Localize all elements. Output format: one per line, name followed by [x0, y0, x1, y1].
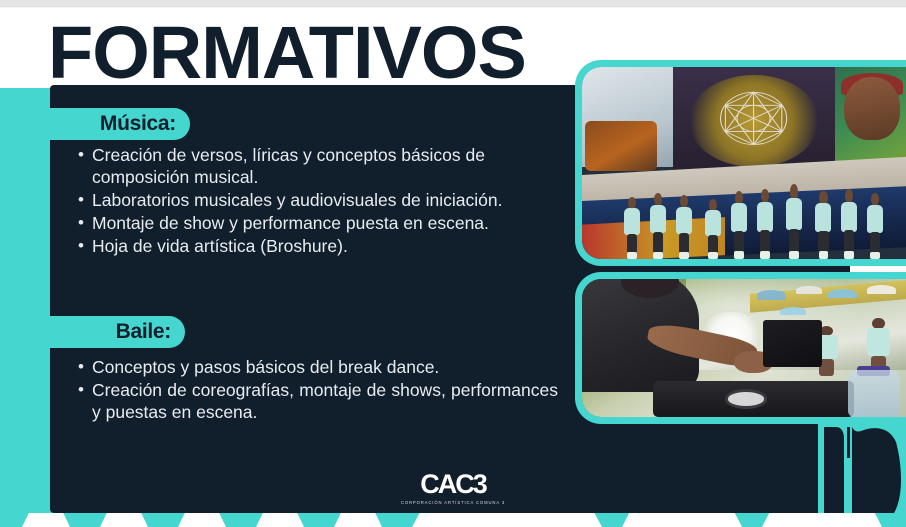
bullet-dot-icon: • — [78, 212, 92, 234]
photo-dancer — [786, 190, 802, 259]
list-item: • Montaje de show y performance puesta e… — [78, 212, 533, 234]
bottom-chevron-wide — [622, 513, 742, 527]
list-item: • Creación de versos, líricas y concepto… — [78, 144, 533, 188]
bullet-dot-icon: • — [78, 144, 92, 166]
photo-umbrella — [796, 286, 822, 294]
section-label-musica: Música: — [0, 108, 190, 140]
photo-dancer — [624, 201, 640, 259]
photo-umbrella — [867, 285, 896, 295]
bullet-dot-icon: • — [78, 379, 92, 401]
list-item: • Creación de coreografías, montaje de s… — [78, 379, 558, 423]
section-label-baile-text: Baile: — [116, 320, 171, 344]
photo-laptop — [763, 320, 821, 367]
brand-logo-mark: CAC3 — [0, 470, 906, 498]
page-title: FORMATIVOS — [48, 16, 526, 90]
bullet-dot-icon: • — [78, 356, 92, 378]
list-item-text: Montaje de show y performance puesta en … — [92, 212, 533, 234]
photo-dancer — [815, 196, 831, 259]
bottom-chevron-wide — [762, 513, 882, 527]
photo-mural-face — [844, 77, 899, 140]
photo-dancer — [841, 194, 857, 259]
list-item: • Laboratorios musicales y audiovisuales… — [78, 189, 533, 211]
photo-jog-wheel — [725, 389, 767, 408]
photo-umbrella — [828, 289, 857, 299]
dj-outdoor-event-photo — [575, 272, 906, 424]
viewer-top-chrome-shadow — [0, 6, 906, 8]
photo-dancer — [676, 199, 692, 259]
dj-outdoor-event-photo-inner — [582, 279, 906, 417]
photo-umbrella — [780, 307, 806, 315]
photo-dancer — [757, 194, 773, 259]
list-item-text: Creación de versos, líricas y conceptos … — [92, 144, 533, 188]
bottom-chevron — [178, 513, 226, 527]
photo-water-bottle — [848, 370, 900, 417]
kids-dance-stage-photo — [575, 60, 906, 266]
list-item: • Hoja de vida artística (Broshure). — [78, 235, 533, 257]
kids-dance-stage-photo-inner — [582, 67, 906, 259]
photo-umbrella — [757, 290, 786, 300]
brand-logo: CAC3 CORPORACIÓN ARTÍSTICA COMUNA 3 — [0, 470, 906, 506]
list-item-text: Hoja de vida artística (Broshure). — [92, 235, 533, 257]
photo-dancer — [650, 198, 666, 259]
list-item-text: Creación de coreografías, montaje de sho… — [92, 379, 558, 423]
bottom-chevron — [334, 513, 382, 527]
bottom-chevron — [256, 513, 304, 527]
section-label-musica-text: Música: — [100, 112, 176, 136]
list-item-text: Conceptos y pasos básicos del break danc… — [92, 356, 558, 378]
photo-dancer — [705, 203, 721, 259]
slide-formativos: FORMATIVOS Música: • Creación de versos,… — [0, 0, 906, 527]
bullet-dot-icon: • — [78, 189, 92, 211]
section-label-baile: Baile: — [0, 316, 185, 348]
bullet-list-baile: • Conceptos y pasos básicos del break da… — [78, 356, 558, 424]
photo-dancer — [731, 196, 747, 259]
bottom-chevron — [100, 513, 148, 527]
bottom-teal-band — [0, 513, 906, 527]
photo-left-mural — [585, 121, 656, 171]
metatron-geometry-icon — [705, 80, 802, 157]
photo-dancer — [867, 198, 883, 259]
bottom-chevron — [22, 513, 70, 527]
bullet-dot-icon: • — [78, 235, 92, 257]
list-item-text: Laboratorios musicales y audiovisuales d… — [92, 189, 533, 211]
bullet-list-musica: • Creación de versos, líricas y concepto… — [78, 144, 533, 258]
list-item: • Conceptos y pasos básicos del break da… — [78, 356, 558, 378]
bottom-chevron-wide — [412, 513, 602, 527]
brand-logo-subtitle: CORPORACIÓN ARTÍSTICA COMUNA 3 — [0, 499, 906, 506]
